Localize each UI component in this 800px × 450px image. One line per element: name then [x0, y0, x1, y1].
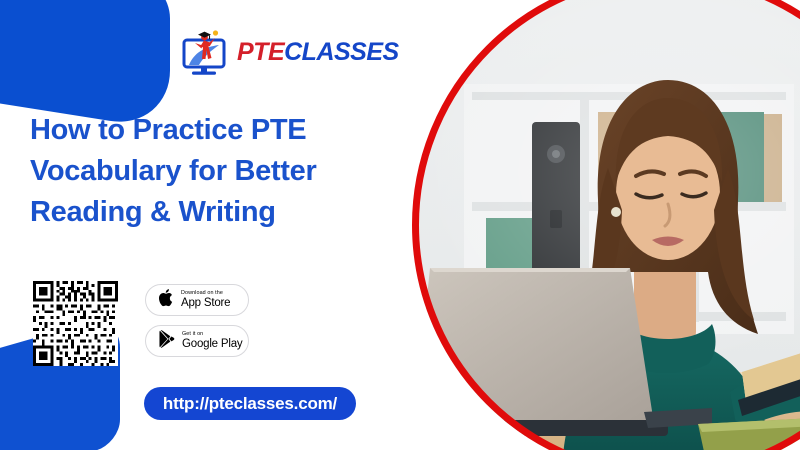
- app-store-badge[interactable]: Download on the App Store: [145, 284, 249, 316]
- graduate-monitor-icon: [178, 26, 230, 78]
- google-play-badge-small-label: Get it on: [182, 332, 242, 337]
- promo-banner: PTECLASSES How to Practice PTE Vocabular…: [0, 0, 800, 450]
- hero-photo-image: [412, 0, 800, 450]
- apple-icon: [159, 289, 174, 312]
- logo-word-classes: CLASSES: [284, 38, 399, 66]
- website-url-button[interactable]: http://pteclasses.com/: [144, 387, 356, 420]
- brand-logo[interactable]: PTECLASSES: [178, 26, 399, 78]
- qr-code[interactable]: [33, 281, 118, 366]
- google-play-icon: [159, 330, 175, 353]
- google-play-badge[interactable]: Get it on Google Play: [145, 325, 249, 357]
- headline: How to Practice PTE Vocabulary for Bette…: [30, 110, 400, 234]
- app-store-badges: Download on the App Store Get it on Goog…: [145, 284, 249, 357]
- logo-word-pte: PTE: [237, 38, 284, 66]
- app-store-badge-label: App Store: [181, 298, 230, 310]
- google-play-badge-label: Google Play: [182, 339, 242, 351]
- hero-photo: [412, 0, 800, 450]
- app-store-badge-small-label: Download on the: [181, 291, 230, 296]
